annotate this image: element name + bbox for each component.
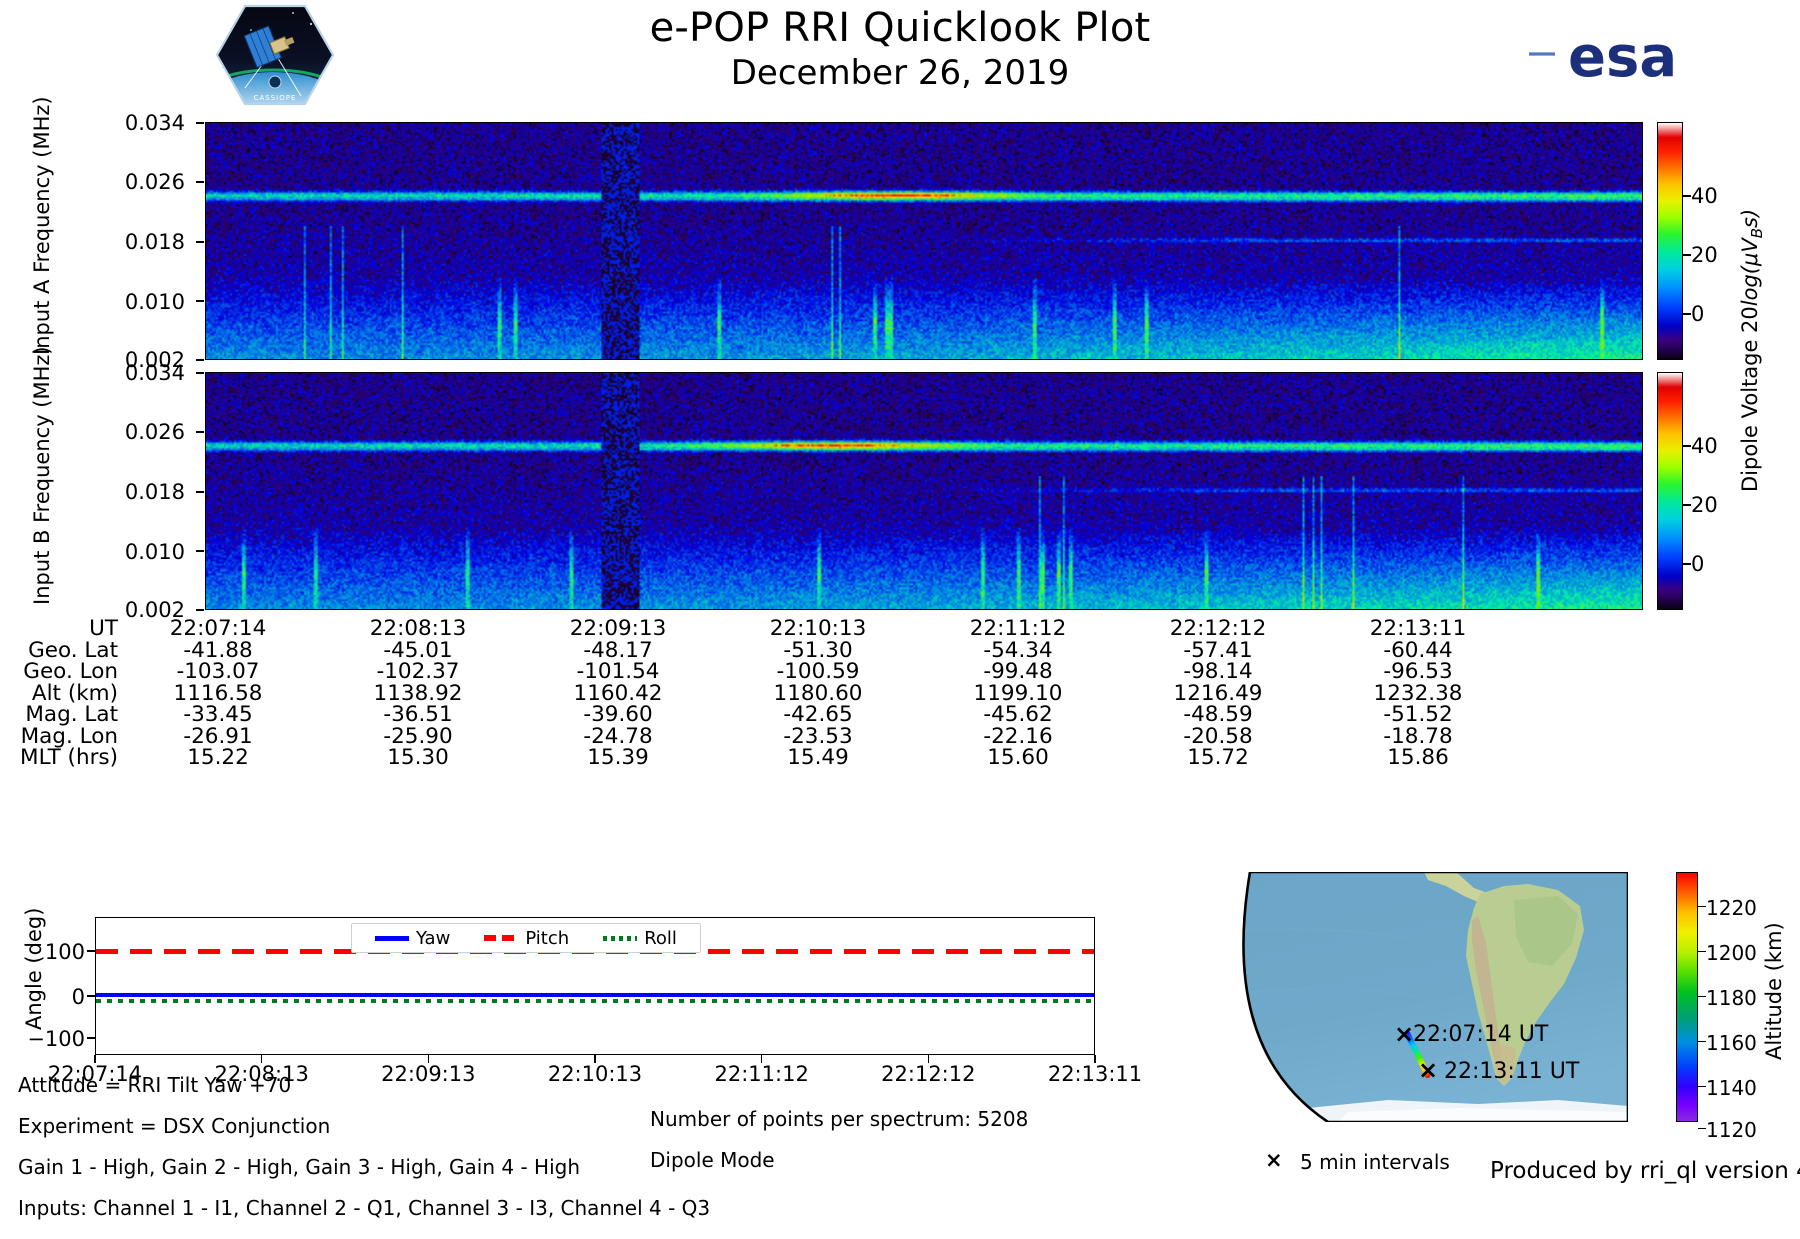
table-row: Mag. Lat-33.45-36.51-39.60-42.65-45.62-4…	[0, 704, 1518, 726]
table-cell: -24.78	[518, 726, 718, 748]
spec-a-ytick-2: 0.018	[75, 230, 185, 254]
table-cell: -54.34	[918, 640, 1118, 662]
table-cell: 1180.60	[718, 683, 918, 705]
alt-tick-1180: 1180	[1706, 986, 1757, 1010]
roll-series-line	[96, 999, 1094, 1003]
table-cell: 15.72	[1118, 747, 1318, 769]
attitude-ytickmark-100	[87, 950, 95, 952]
attitude-plot[interactable]: Yaw Pitch Roll	[95, 917, 1095, 1055]
spec-a-ytick-3: 0.010	[75, 290, 185, 314]
alt-tick-1220: 1220	[1706, 896, 1757, 920]
attitude-ytickmark-neg100	[87, 1037, 95, 1039]
table-cell: -39.60	[518, 704, 718, 726]
spec-b-tickmark-2	[196, 491, 204, 493]
spectrogram-input-b[interactable]	[205, 372, 1643, 610]
spec-b-ytick-3: 0.010	[75, 540, 185, 564]
table-row-label: Alt (km)	[0, 683, 118, 705]
attitude-xtick-5: 22:12:12	[868, 1062, 988, 1086]
colorbar-b-tick-20: 20	[1691, 493, 1718, 517]
attitude-ytick-0: 0	[5, 985, 85, 1009]
legend-label-roll: Roll	[644, 928, 677, 949]
table-cell: 22:12:12	[1118, 618, 1318, 640]
table-cell: 1199.10	[918, 683, 1118, 705]
info-points-per-spectrum: Number of points per spectrum: 5208	[650, 1109, 1028, 1129]
table-cell: -25.90	[318, 726, 518, 748]
spec-a-tickmark-0	[196, 122, 204, 124]
table-row: MLT (hrs)15.2215.3015.3915.4915.6015.721…	[0, 747, 1518, 769]
spec-a-ytick-0: 0.034	[75, 111, 185, 135]
table-cell: -20.58	[1118, 726, 1318, 748]
spectrogram-input-a[interactable]	[205, 122, 1643, 360]
spec-a-tickmark-3	[196, 300, 204, 302]
info-experiment: Experiment = DSX Conjunction	[18, 1116, 710, 1136]
spec-b-ytick-0: 0.034	[75, 361, 185, 385]
title-block: e-POP RRI Quicklook Plot December 26, 20…	[400, 4, 1400, 94]
table-cell: -57.41	[1118, 640, 1318, 662]
table-cell: 1116.58	[118, 683, 318, 705]
table-cell: 22:07:14	[118, 618, 318, 640]
colorbar-a-tick-0: 0	[1691, 302, 1704, 326]
yaw-series-line	[96, 993, 1094, 997]
table-cell: -51.30	[718, 640, 918, 662]
altitude-colorbar-label: Altitude (km)	[1762, 922, 1786, 1060]
interval-note: 5 min intervals	[1300, 1150, 1450, 1174]
spec-a-tickmark-1	[196, 181, 204, 183]
table-row: Mag. Lon-26.91-25.90-24.78-23.53-22.16-2…	[0, 726, 1518, 748]
table-row: Alt (km)1116.581138.921160.421180.601199…	[0, 683, 1518, 705]
info-dipole-mode: Dipole Mode	[650, 1150, 1028, 1170]
table-cell: -45.01	[318, 640, 518, 662]
pitch-line-icon	[484, 935, 518, 941]
spectrogram-b-canvas	[206, 373, 1642, 609]
table-row: Geo. Lon-103.07-102.37-101.54-100.59-99.…	[0, 661, 1518, 683]
attitude-xtick-6: 22:13:11	[1035, 1062, 1155, 1086]
table-cell: 1216.49	[1118, 683, 1318, 705]
ephemeris-table: UT22:07:1422:08:1322:09:1322:10:1322:11:…	[0, 618, 1520, 769]
ephemeris-table-body: UT22:07:1422:08:1322:09:1322:10:1322:11:…	[0, 618, 1518, 769]
table-cell: -26.91	[118, 726, 318, 748]
spec-b-ytick-2: 0.018	[75, 480, 185, 504]
table-cell: 22:09:13	[518, 618, 718, 640]
spec-a-ytick-1: 0.026	[75, 170, 185, 194]
table-cell: 22:10:13	[718, 618, 918, 640]
table-cell: -36.51	[318, 704, 518, 726]
info-attitude: Attitude = RRI Tilt Yaw +70	[18, 1075, 710, 1095]
table-row-label: Mag. Lon	[0, 726, 118, 748]
attitude-ytick-neg100: −100	[5, 1027, 85, 1051]
table-cell: 15.22	[118, 747, 318, 769]
attitude-xtickmark-2	[428, 1055, 430, 1063]
colorbar-a-tick-20: 20	[1691, 243, 1718, 267]
track-end-label: 22:13:11 UT	[1444, 1059, 1579, 1084]
table-cell: 22:13:11	[1318, 618, 1518, 640]
attitude-legend[interactable]: Yaw Pitch Roll	[351, 923, 701, 953]
table-cell: -98.14	[1118, 661, 1318, 683]
colorbar-b-tick-40: 40	[1691, 434, 1718, 458]
table-cell: -96.53	[1318, 661, 1518, 683]
table-cell: -48.59	[1118, 704, 1318, 726]
track-start-marker-icon: ×	[1394, 1022, 1414, 1046]
legend-item-yaw[interactable]: Yaw	[375, 928, 450, 949]
colorbar-b-ticks: 40 20 0	[1657, 372, 1787, 610]
table-cell: -48.17	[518, 640, 718, 662]
legend-label-yaw: Yaw	[416, 928, 450, 949]
table-cell: 1138.92	[318, 683, 518, 705]
table-cell: -18.78	[1318, 726, 1518, 748]
table-row: Geo. Lat-41.88-45.01-48.17-51.30-54.34-5…	[0, 640, 1518, 662]
info-gains: Gain 1 - High, Gain 2 - High, Gain 3 - H…	[18, 1157, 710, 1177]
legend-item-pitch[interactable]: Pitch	[484, 928, 569, 949]
attitude-xtickmark-0	[94, 1055, 96, 1063]
table-cell: 15.39	[518, 747, 718, 769]
attitude-xtickmark-3	[594, 1055, 596, 1063]
interval-marker-icon: ×	[1265, 1148, 1283, 1172]
spec-b-tickmark-0	[196, 372, 204, 374]
attitude-ylabel: Angle (deg)	[22, 908, 46, 1030]
alt-tick-1140: 1140	[1706, 1076, 1757, 1100]
table-cell: -60.44	[1318, 640, 1518, 662]
table-cell: -33.45	[118, 704, 318, 726]
attitude-xtick-4: 22:11:12	[702, 1062, 822, 1086]
table-cell: -101.54	[518, 661, 718, 683]
roll-line-icon	[603, 936, 637, 941]
legend-item-roll[interactable]: Roll	[603, 928, 677, 949]
spectrogram-b-ylabel: Input B Frequency (MHz)	[30, 346, 54, 605]
spec-a-tickmark-2	[196, 241, 204, 243]
colorbar-a-tick-40: 40	[1691, 184, 1718, 208]
spectrogram-a-ylabel: Input A Frequency (MHz)	[30, 96, 54, 355]
spec-b-tickmark-3	[196, 550, 204, 552]
plot-date: December 26, 2019	[400, 52, 1400, 94]
cassiope-logo-text: CASSIOPE	[254, 94, 297, 102]
table-cell: 22:08:13	[318, 618, 518, 640]
spectrogram-a-canvas	[206, 123, 1642, 359]
colorbar-axis-label: Dipole Voltage 20log(μVBs)	[1738, 209, 1766, 492]
alt-tick-1200: 1200	[1706, 941, 1757, 965]
table-cell: -51.52	[1318, 704, 1518, 726]
page-title: e-POP RRI Quicklook Plot	[400, 4, 1400, 52]
table-row-label: Geo. Lat	[0, 640, 118, 662]
attitude-xtickmark-5	[928, 1055, 930, 1063]
ground-track-map[interactable]: × 22:07:14 UT × 22:13:11 UT	[1228, 872, 1628, 1122]
info-block-left: Attitude = RRI Tilt Yaw +70 Experiment =…	[18, 1075, 710, 1239]
track-start-label: 22:07:14 UT	[1413, 1022, 1548, 1047]
produced-by-text: Produced by rri_ql version 4	[1490, 1158, 1800, 1184]
table-cell: -103.07	[118, 661, 318, 683]
attitude-xtickmark-1	[261, 1055, 263, 1063]
attitude-xtickmark-4	[761, 1055, 763, 1063]
table-cell: 22:11:12	[918, 618, 1118, 640]
header: CASSIOPE e-POP RRI Quicklook Plot Decemb…	[0, 0, 1800, 110]
table-row-label: MLT (hrs)	[0, 747, 118, 769]
attitude-xtickmark-6	[1094, 1055, 1096, 1063]
table-cell: -100.59	[718, 661, 918, 683]
legend-label-pitch: Pitch	[525, 928, 569, 949]
colorbar-a-ticks: 40 20 0	[1657, 122, 1787, 360]
map-svg	[1228, 872, 1628, 1122]
table-cell: -45.62	[918, 704, 1118, 726]
info-inputs: Inputs: Channel 1 - I1, Channel 2 - Q1, …	[18, 1198, 710, 1218]
info-block-right: Number of points per spectrum: 5208 Dipo…	[650, 1109, 1028, 1191]
alt-tick-1120: 1120	[1706, 1118, 1757, 1142]
spec-b-tickmark-1	[196, 431, 204, 433]
table-cell: -102.37	[318, 661, 518, 683]
attitude-ytickmark-0	[87, 995, 95, 997]
table-row-label: Mag. Lat	[0, 704, 118, 726]
table-cell: 15.86	[1318, 747, 1518, 769]
spec-b-ytick-1: 0.026	[75, 420, 185, 444]
table-cell: -22.16	[918, 726, 1118, 748]
colorbar-b-tick-0: 0	[1691, 552, 1704, 576]
table-cell: 15.49	[718, 747, 918, 769]
yaw-line-icon	[375, 936, 409, 941]
table-cell: 1160.42	[518, 683, 718, 705]
table-cell: 15.60	[918, 747, 1118, 769]
table-cell: -41.88	[118, 640, 318, 662]
table-cell: 15.30	[318, 747, 518, 769]
esa-logo: esa	[1480, 14, 1710, 94]
alt-tick-1160: 1160	[1706, 1031, 1757, 1055]
table-cell: -23.53	[718, 726, 918, 748]
track-end-marker-icon: ×	[1418, 1058, 1438, 1082]
table-cell: 1232.38	[1318, 683, 1518, 705]
spec-b-tickmark-4	[196, 609, 204, 611]
spec-a-tickmark-4	[196, 359, 204, 361]
table-row: UT22:07:1422:08:1322:09:1322:10:1322:11:…	[0, 618, 1518, 640]
table-row-label: Geo. Lon	[0, 661, 118, 683]
table-cell: -42.65	[718, 704, 918, 726]
table-row-label: UT	[0, 618, 118, 640]
attitude-ytick-100: 100	[5, 940, 85, 964]
esa-logo-text: esa	[1568, 25, 1677, 90]
cassiope-logo: CASSIOPE	[215, 4, 335, 106]
table-cell: -99.48	[918, 661, 1118, 683]
